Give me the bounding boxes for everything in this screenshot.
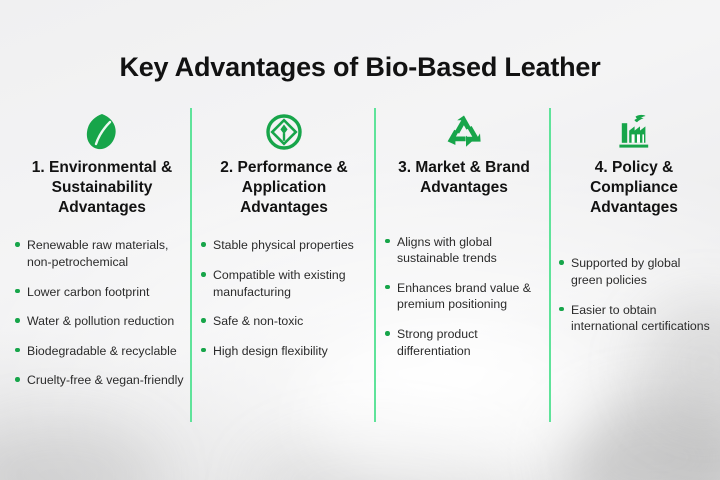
list-item: Lower carbon footprint [14,284,190,301]
leaf-icon [14,108,190,156]
background-texture-blob [0,420,160,480]
list-item: Cruelty-free & vegan-friendly [14,372,190,389]
target-diamond-icon [200,108,368,156]
list-item: Supported by global green policies [558,255,710,288]
list-item: Renewable raw materials, non-petrochemic… [14,237,190,270]
column-heading: 2. Performance & Application Advantages [200,158,368,217]
list-item: Easier to obtain international certifica… [558,302,710,335]
column-heading: 3. Market & Brand Advantages [384,158,544,198]
column-divider [549,108,551,422]
list-item: Compatible with existing manufacturing [200,267,368,300]
column-divider [374,108,376,422]
advantage-column-policy: 4. Policy & Compliance Advantages Suppor… [558,108,710,348]
background-texture-blob [250,430,510,480]
advantage-columns: 1. Environmental & Sustainability Advant… [0,108,720,428]
infographic-poster: Key Advantages of Bio-Based Leather 1. E… [0,0,720,480]
list-item: Water & pollution reduction [14,313,190,330]
advantage-list: Renewable raw materials, non-petrochemic… [14,237,190,389]
list-item: Stable physical properties [200,237,368,254]
eco-factory-icon [558,108,710,156]
list-item: High design flexibility [200,343,368,360]
advantage-list: Aligns with global sustainable trends En… [384,234,544,360]
list-item: Biodegradable & recyclable [14,343,190,360]
advantage-list: Stable physical properties Compatible wi… [200,237,368,359]
advantage-column-performance: 2. Performance & Application Advantages … [200,108,368,372]
advantage-column-market: 3. Market & Brand Advantages Aligns with… [384,108,544,372]
list-item: Safe & non-toxic [200,313,368,330]
advantage-list: Supported by global green policies Easie… [558,255,710,334]
advantage-column-environmental: 1. Environmental & Sustainability Advant… [14,108,190,402]
page-title: Key Advantages of Bio-Based Leather [0,52,720,83]
column-heading: 4. Policy & Compliance Advantages [558,158,710,217]
column-divider [190,108,192,422]
list-item: Aligns with global sustainable trends [384,234,544,267]
list-item: Enhances brand value & premium positioni… [384,280,544,313]
column-heading: 1. Environmental & Sustainability Advant… [14,158,190,217]
list-item: Strong product differentiation [384,326,544,359]
recycle-icon [384,108,544,156]
